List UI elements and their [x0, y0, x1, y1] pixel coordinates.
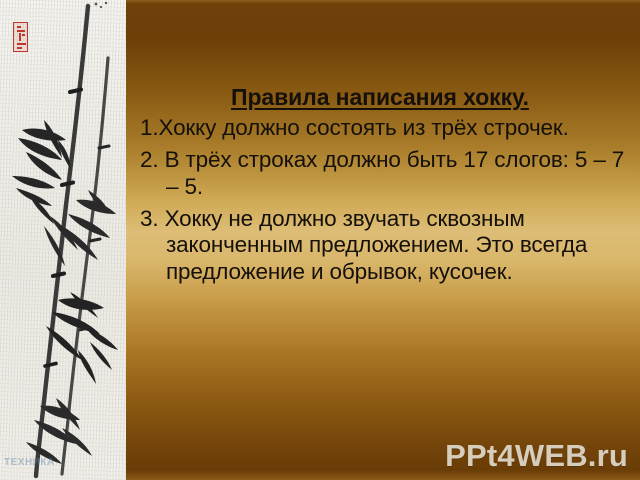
- bamboo-ink-painting: ТЕХНИКА: [0, 0, 126, 480]
- slide-content: Правила написания хокку. 1.Хокку должно …: [126, 0, 640, 480]
- seal-stroke: [22, 34, 25, 36]
- rules-list: 1.Хокку должно состоять из трёх строчек.…: [140, 115, 634, 285]
- page-title: Правила написания хокку.: [140, 84, 634, 111]
- artwork-watermark: ТЕХНИКА: [4, 457, 55, 468]
- red-artist-seal: [13, 22, 28, 52]
- presentation-slide: ТЕХНИКА Правила написания хокку. 1.Хокку…: [0, 0, 640, 480]
- list-item: 1.Хокку должно состоять из трёх строчек.: [140, 115, 634, 141]
- bamboo-illustration-svg: [0, 0, 126, 480]
- seal-stroke: [19, 33, 21, 41]
- seal-stroke: [17, 47, 22, 49]
- brand-watermark: PPt4WEB.ru: [445, 438, 628, 474]
- list-item: 3. Хокку не должно звучать сквозным зако…: [140, 206, 634, 285]
- list-item: 2. В трёх строках должно быть 17 слогов:…: [140, 147, 634, 200]
- seal-stroke: [17, 30, 25, 32]
- seal-stroke: [17, 26, 21, 28]
- seal-stroke: [17, 43, 26, 45]
